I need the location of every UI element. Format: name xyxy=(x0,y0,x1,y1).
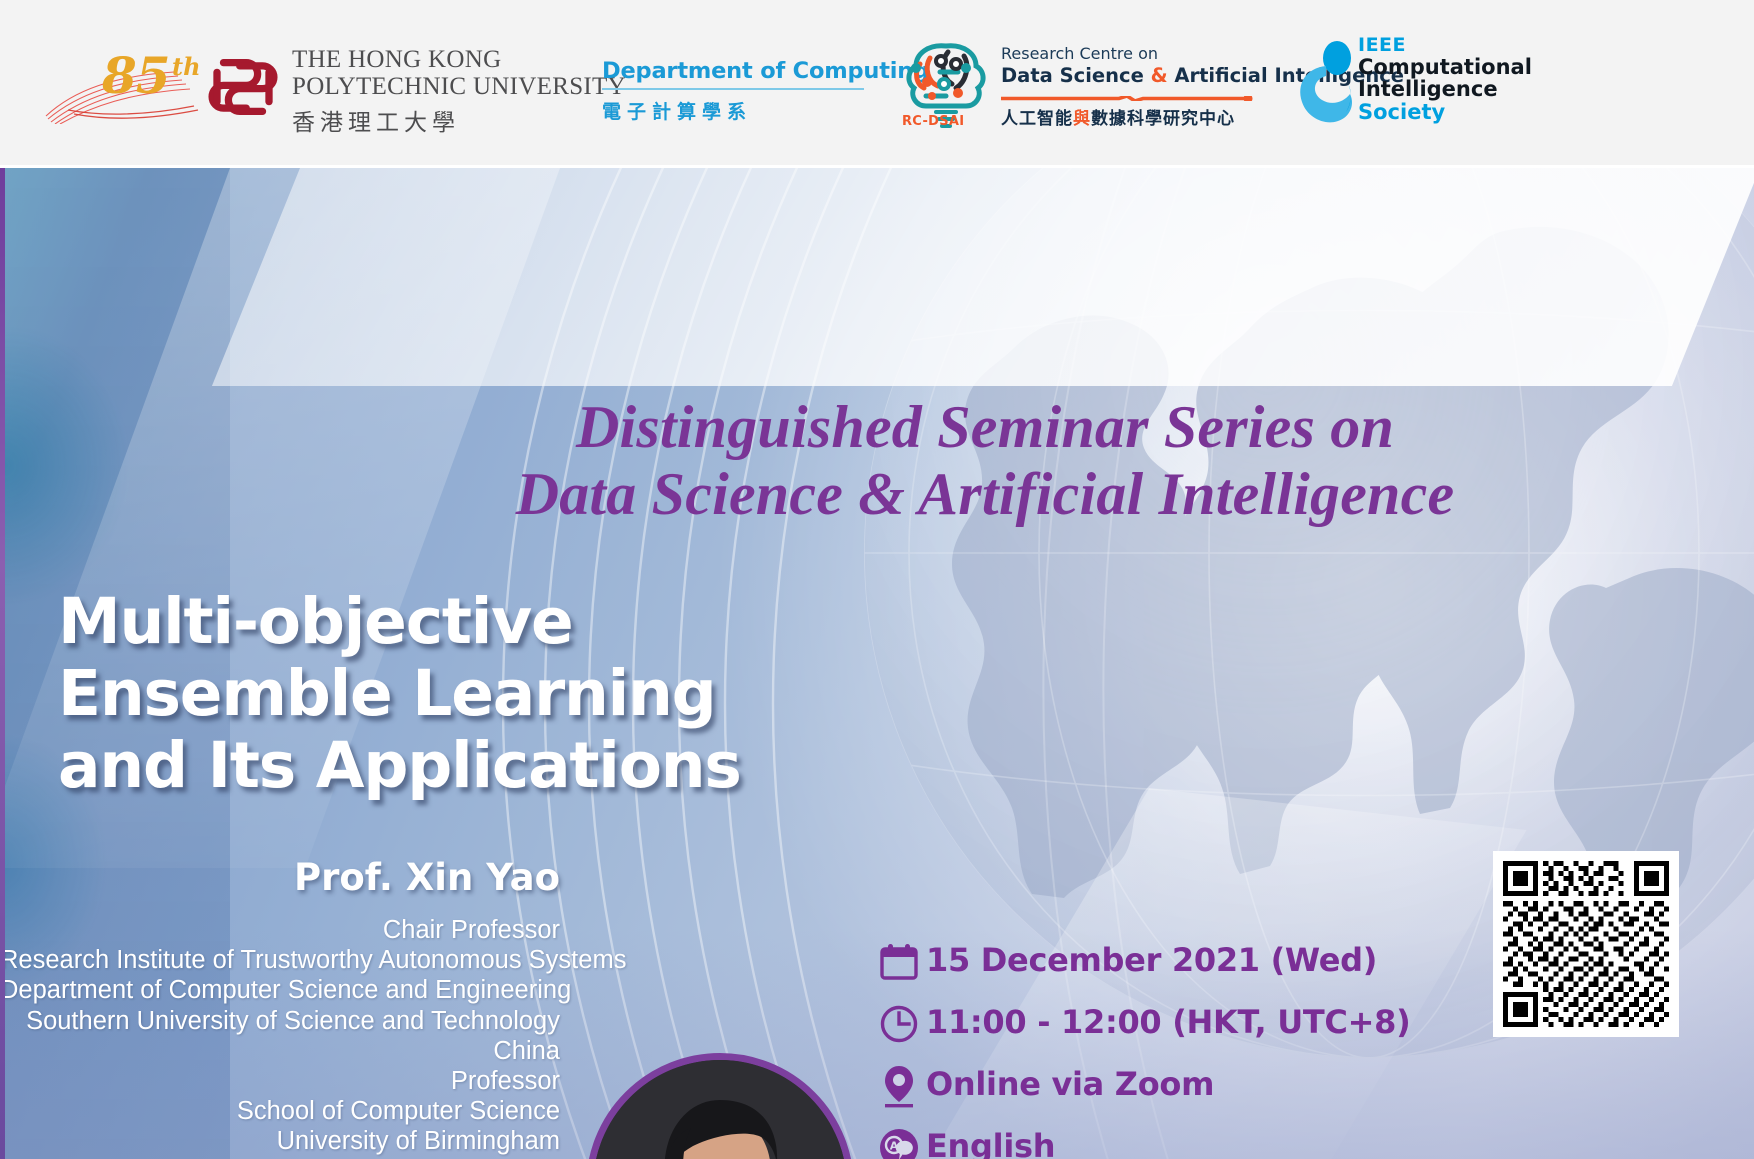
ieee-word-society: Society xyxy=(1358,101,1532,123)
detail-date: 15 December 2021 (Wed) xyxy=(926,938,1377,980)
speaker-affiliation: Chair Professor xyxy=(0,915,560,945)
location-pin-icon xyxy=(872,1062,926,1110)
talk-title-line1: Multi-objective xyxy=(58,586,741,658)
speaker-affiliation: Professor xyxy=(0,1066,560,1096)
rcdsai-logo: RC-DSAI Research Centre on Data Science … xyxy=(896,38,1256,138)
series-title-line2: Data Science & Artificial Intelligence xyxy=(430,461,1540,528)
speaker-portrait xyxy=(586,1053,854,1159)
detail-row-language: A English xyxy=(872,1124,1552,1159)
speaker-photo-icon xyxy=(593,1060,847,1159)
speaker-affiliation: School of Computer Science xyxy=(0,1096,560,1126)
speaker-affiliation: China xyxy=(0,1036,560,1066)
rcdsai-line3-amp: 與 xyxy=(1073,109,1091,129)
rcdsai-divider-icon xyxy=(1001,96,1253,101)
rcdsai-ampersand: & xyxy=(1151,64,1168,87)
speaker-affiliation: University of Birmingham xyxy=(0,1126,560,1156)
rcdsai-abbreviation: RC-DSAI xyxy=(902,114,964,129)
left-purple-edge xyxy=(0,168,5,1159)
qr-code[interactable] xyxy=(1493,851,1679,1037)
rcdsai-line3: 人工智能與數據科學研究中心 xyxy=(1001,104,1235,129)
speaker-affiliation: Southern University of Science and Techn… xyxy=(0,1006,560,1036)
language-icon: A xyxy=(872,1124,926,1159)
polyu-name-chinese: 香港理工大學 xyxy=(292,103,626,137)
speaker-name: Prof. Xin Yao xyxy=(0,856,560,899)
polyu-name-line1: THE HONG KONG xyxy=(292,46,626,73)
detail-venue: Online via Zoom xyxy=(926,1062,1214,1104)
ieee-word-intelligence: Intelligence xyxy=(1358,78,1532,100)
polyu-name-line2: POLYTECHNIC UNIVERSITY xyxy=(292,73,626,100)
ieee-label: IEEE xyxy=(1358,34,1532,56)
rcdsai-line3-b: 數據科學研究中心 xyxy=(1091,109,1235,129)
talk-title-line3: and Its Applications xyxy=(58,730,741,802)
detail-time: 11:00 - 12:00 (HKT, UTC+8) xyxy=(926,1000,1410,1042)
qr-code-icon xyxy=(1503,861,1669,1027)
talk-title: Multi-objective Ensemble Learning and It… xyxy=(58,586,741,801)
rcdsai-line2-a: Data Science xyxy=(1001,64,1151,87)
detail-row-date: 15 December 2021 (Wed) xyxy=(872,938,1552,986)
speaker-block: Prof. Xin Yao Chair Professor Research I… xyxy=(0,856,560,1159)
anniversary-suffix: th xyxy=(172,52,201,81)
header-logo-bar: 85 th THE HONG KONG POLYTECHNIC UNIVERSI… xyxy=(0,0,1754,168)
ieee-cis-logo: IEEE Computational Intelligence Society xyxy=(1296,34,1536,138)
ieee-word-computational: Computational xyxy=(1358,56,1532,78)
computing-name-en: Department of Computing xyxy=(602,58,864,90)
event-details: 15 December 2021 (Wed) 11:00 - 12:00 (HK… xyxy=(872,938,1552,1159)
anniversary-number: 85 xyxy=(102,46,170,105)
talk-title-line2: Ensemble Learning xyxy=(58,658,741,730)
ieee-cis-name: IEEE Computational Intelligence Society xyxy=(1358,34,1532,123)
series-title-line1: Distinguished Seminar Series on xyxy=(430,394,1540,461)
seminar-poster: 85 th THE HONG KONG POLYTECHNIC UNIVERSI… xyxy=(0,0,1754,1159)
clock-icon xyxy=(872,1000,926,1048)
polyu-logo: 85 th THE HONG KONG POLYTECHNIC UNIVERSI… xyxy=(42,40,582,132)
logo-row: 85 th THE HONG KONG POLYTECHNIC UNIVERSI… xyxy=(0,0,1754,165)
detail-row-time: 11:00 - 12:00 (HKT, UTC+8) xyxy=(872,1000,1552,1048)
detail-row-venue: Online via Zoom xyxy=(872,1062,1552,1110)
computing-department-logo: Department of Computing 電子計算學系 xyxy=(602,58,864,124)
ieee-cis-mark-icon xyxy=(1296,40,1354,132)
detail-language: English xyxy=(926,1124,1055,1159)
speaker-affiliation: Department of Computer Science and Engin… xyxy=(0,975,560,1005)
polyu-knot-icon xyxy=(202,48,284,126)
poster-body: Distinguished Seminar Series on Data Sci… xyxy=(0,168,1754,1159)
rcdsai-line3-a: 人工智能 xyxy=(1001,109,1073,129)
calendar-icon xyxy=(872,938,926,986)
seminar-series-title: Distinguished Seminar Series on Data Sci… xyxy=(430,394,1540,528)
speaker-affiliation: Research Institute of Trustworthy Autono… xyxy=(0,945,560,975)
computing-name-cn: 電子計算學系 xyxy=(602,97,864,124)
polyu-name: THE HONG KONG POLYTECHNIC UNIVERSITY 香港理… xyxy=(292,46,626,137)
